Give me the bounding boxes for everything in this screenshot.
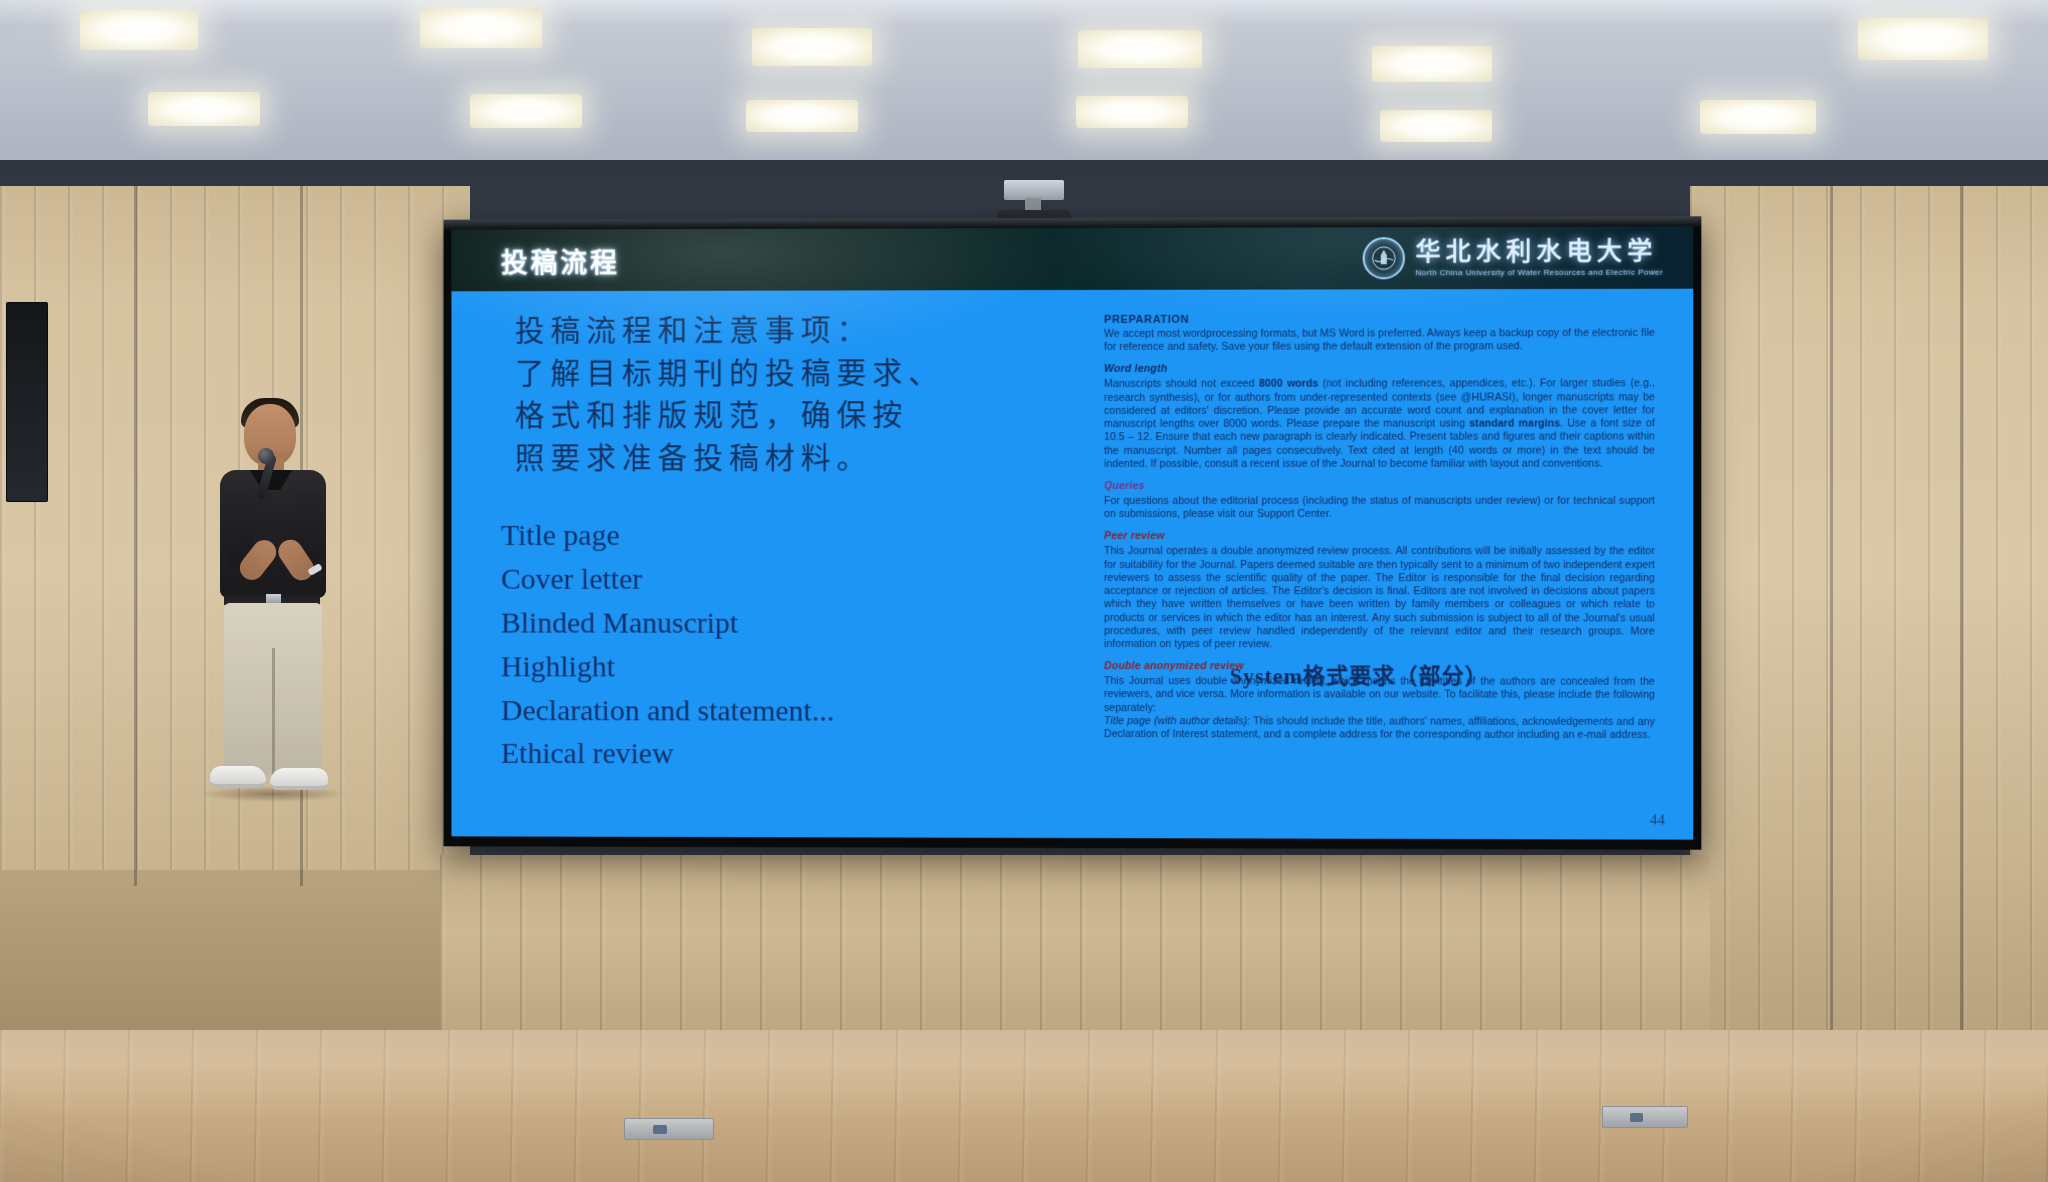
word-length-bold-1: 8000 words bbox=[1259, 378, 1318, 390]
panel-fade bbox=[1094, 737, 1665, 754]
floor-outlet-plate bbox=[1602, 1106, 1688, 1128]
word-length-body: Manuscripts should not exceed 8000 words… bbox=[1104, 378, 1655, 471]
slide-page-number: 44 bbox=[1650, 812, 1665, 829]
presenter-left-shoe bbox=[210, 766, 266, 788]
lecture-hall-scene: 投稿流程 华北水利水电大学 North China University of … bbox=[0, 0, 2048, 1182]
ceiling-band bbox=[0, 0, 2048, 26]
word-length-bold-2: standard margins bbox=[1469, 418, 1560, 430]
ceiling-light bbox=[148, 92, 260, 126]
projector-mount bbox=[1004, 180, 1064, 200]
queries-heading: Queries bbox=[1104, 480, 1655, 492]
presenter bbox=[188, 398, 368, 818]
title-page-italic: Title page (with author details): bbox=[1104, 715, 1250, 727]
wall-speaker bbox=[6, 302, 48, 502]
slide-left-column: 投稿流程和注意事项： 了解目标期刊的投稿要求、 格式和排版规范，确保按 照要求准… bbox=[493, 310, 1080, 777]
ceiling-light bbox=[746, 100, 858, 132]
chinese-line: 了解目标期刊的投稿要求、 bbox=[515, 353, 1080, 396]
wall-seam bbox=[134, 186, 137, 886]
university-name-en: North China University of Water Resource… bbox=[1415, 268, 1663, 277]
ceiling-light bbox=[1700, 100, 1816, 134]
ceiling-light bbox=[1372, 46, 1492, 82]
queries-body: For questions about the editorial proces… bbox=[1104, 495, 1655, 522]
wood-wall-right bbox=[1690, 186, 2048, 1051]
list-item: Blinded Manuscript bbox=[501, 602, 1080, 646]
ceiling-light bbox=[1858, 18, 1988, 60]
ceiling-light bbox=[420, 8, 542, 48]
word-length-text-1: Manuscripts should not exceed bbox=[1104, 378, 1259, 390]
slide: 投稿流程 华北水利水电大学 North China University of … bbox=[451, 226, 1693, 839]
ceiling-light bbox=[752, 28, 872, 66]
university-emblem-icon bbox=[1363, 237, 1405, 279]
university-logo: 华北水利水电大学 North China University of Water… bbox=[1363, 236, 1663, 279]
slide-caption: System格式要求（部分） bbox=[1048, 658, 1671, 691]
microphone-head-icon bbox=[258, 448, 274, 464]
word-length-heading: Word length bbox=[1104, 363, 1655, 376]
ceiling-light bbox=[1380, 110, 1492, 142]
wood-wall-lower-left bbox=[0, 870, 470, 1050]
preparation-heading: PREPARATION bbox=[1104, 313, 1655, 326]
peer-review-body: This Journal operates a double anonymize… bbox=[1104, 545, 1655, 651]
list-item: Cover letter bbox=[501, 558, 1080, 602]
slide-header: 投稿流程 华北水利水电大学 North China University of … bbox=[451, 226, 1693, 291]
chinese-line: 照要求准备投稿材料。 bbox=[515, 438, 1080, 481]
chinese-paragraph: 投稿流程和注意事项： 了解目标期刊的投稿要求、 格式和排版规范，确保按 照要求准… bbox=[493, 310, 1080, 481]
ceiling-light bbox=[80, 10, 198, 50]
wall-panel-below-screen bbox=[440, 855, 1710, 1051]
floor-sheen bbox=[0, 1030, 2048, 1182]
presenter-right-shoe bbox=[270, 768, 328, 790]
list-item: Declaration and statement... bbox=[501, 689, 1080, 734]
list-item: Title page bbox=[501, 514, 1080, 558]
presenter-leg-seam bbox=[272, 648, 275, 776]
wall-seam bbox=[1960, 186, 1963, 1046]
ceiling-light bbox=[1078, 30, 1202, 68]
chinese-line: 格式和排版规范，确保按 bbox=[515, 395, 1080, 438]
slide-body: 投稿流程和注意事项： 了解目标期刊的投稿要求、 格式和排版规范，确保按 照要求准… bbox=[451, 289, 1693, 840]
wall-seam bbox=[1830, 186, 1833, 1046]
floor-outlet-plate bbox=[624, 1118, 714, 1140]
projection-screen: 投稿流程 华北水利水电大学 North China University of … bbox=[444, 216, 1702, 849]
list-item: Ethical review bbox=[501, 732, 1080, 777]
chinese-line: 投稿流程和注意事项： bbox=[515, 310, 1080, 353]
peer-review-heading: Peer review bbox=[1104, 530, 1655, 542]
list-item: Highlight bbox=[501, 645, 1080, 689]
slide-title: 投稿流程 bbox=[501, 241, 620, 280]
university-logo-text: 华北水利水电大学 North China University of Water… bbox=[1415, 239, 1663, 277]
university-name-cn: 华北水利水电大学 bbox=[1415, 239, 1663, 265]
preparation-body: We accept most wordprocessing formats, b… bbox=[1104, 327, 1655, 354]
ceiling-light bbox=[1076, 96, 1188, 128]
submission-item-list: Title page Cover letter Blinded Manuscri… bbox=[493, 514, 1080, 777]
ceiling-light bbox=[470, 94, 582, 128]
